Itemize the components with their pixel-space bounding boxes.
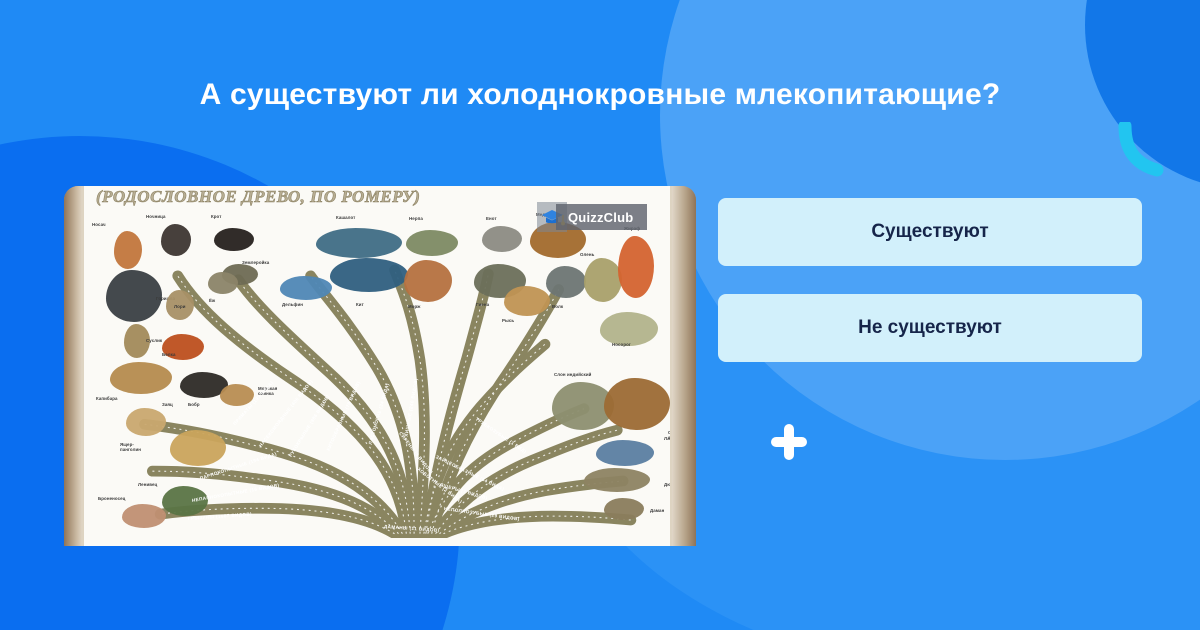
- poster-animal: [584, 468, 650, 492]
- poster-page: (РОДОСЛОВНОЕ ДРЕВО, ПО РОМЕРУ): [82, 186, 672, 546]
- answer-option-1[interactable]: Существуют: [718, 198, 1142, 266]
- poster-animal-label: Броненосец: [98, 496, 125, 501]
- poster-animal: [106, 270, 162, 322]
- poster-animal: [604, 498, 644, 520]
- poster-animal: [126, 408, 166, 436]
- poster-animal-label: Слон индийский: [554, 372, 591, 377]
- poster-animal-label: Ночница: [146, 214, 166, 219]
- poster-animal-label: Енот: [486, 216, 497, 221]
- poster-animal-label: Нерпа: [409, 216, 423, 221]
- poster-animal: [482, 226, 522, 252]
- poster-animal-label: Дельфин: [282, 302, 303, 307]
- poster-animal-label: Даман: [650, 508, 664, 513]
- cyan-swoosh-icon: [1118, 122, 1164, 178]
- poster-animal: [504, 286, 550, 316]
- poster-animal-label: Ламантин: [664, 436, 672, 441]
- poster-animal: [600, 312, 658, 346]
- quiz-card: А существуют ли холоднокровные млекопита…: [0, 0, 1200, 630]
- poster-animal-label: Олень: [580, 252, 594, 257]
- poster-animal: [162, 486, 208, 516]
- poster-animal-label: Кашалот: [336, 215, 355, 220]
- poster-animal: [316, 228, 402, 258]
- poster-animal: [214, 228, 254, 251]
- poster-animal-label: Дюгонь: [664, 482, 672, 487]
- question-title: А существуют ли холоднокровные млекопита…: [0, 76, 1200, 114]
- question-image[interactable]: (РОДОСЛОВНОЕ ДРЕВО, ПО РОМЕРУ): [64, 186, 696, 546]
- poster-animal: [404, 260, 452, 302]
- poster-animal-label: Носорог: [612, 342, 631, 347]
- poster-animal: [110, 362, 172, 394]
- poster-animal-label: Заяц: [162, 402, 173, 407]
- poster-animal-label: Ящер- панголин: [120, 442, 141, 453]
- poster-animal: [406, 230, 458, 256]
- poster-animal-label: Морская свинка: [258, 386, 277, 397]
- poster-animal: [596, 440, 654, 466]
- poster-animal: [618, 236, 654, 298]
- poster-animal: [220, 384, 254, 406]
- poster-animal: [584, 258, 622, 302]
- poster-animal: [280, 276, 332, 300]
- poster-animal-label: Волк: [552, 304, 563, 309]
- poster-animal-label: Кит: [356, 302, 364, 307]
- poster-animal: [170, 430, 226, 466]
- poster-animal: [114, 231, 142, 269]
- poster-animal-label: Рысь: [502, 318, 514, 323]
- poster-animal-label: Капибара: [96, 396, 118, 401]
- poster-animal-label: Носач: [92, 222, 106, 227]
- plus-icon[interactable]: [765, 418, 813, 466]
- poster-animal-label: Гиена: [476, 302, 489, 307]
- poster-animal-label: Бобр: [188, 402, 200, 407]
- poster-animal-label: Ленивец: [138, 482, 157, 487]
- watermark-brand-label: QuizzClub: [568, 210, 633, 225]
- poster-right-edge: [670, 186, 696, 546]
- poster-animal: [208, 272, 238, 294]
- poster-animal-label: Суслик: [146, 338, 162, 343]
- poster-animal-label: Землеройка: [242, 260, 269, 265]
- answer-option-2[interactable]: Не существуют: [718, 294, 1142, 362]
- poster-animal-label: Морж: [408, 304, 420, 309]
- poster-animal: [122, 504, 166, 528]
- poster-animal: [330, 258, 408, 292]
- poster-animal: [546, 266, 586, 298]
- quizzclub-watermark: QuizzClub: [556, 204, 647, 230]
- poster-animal-label: Ёж: [209, 298, 215, 303]
- poster-animal-label: Белка: [162, 352, 176, 357]
- poster-animal: [604, 378, 670, 430]
- poster-animal-label: Лори: [174, 304, 186, 309]
- poster-animal-label: Крот: [211, 214, 222, 219]
- poster-animal: [161, 224, 191, 256]
